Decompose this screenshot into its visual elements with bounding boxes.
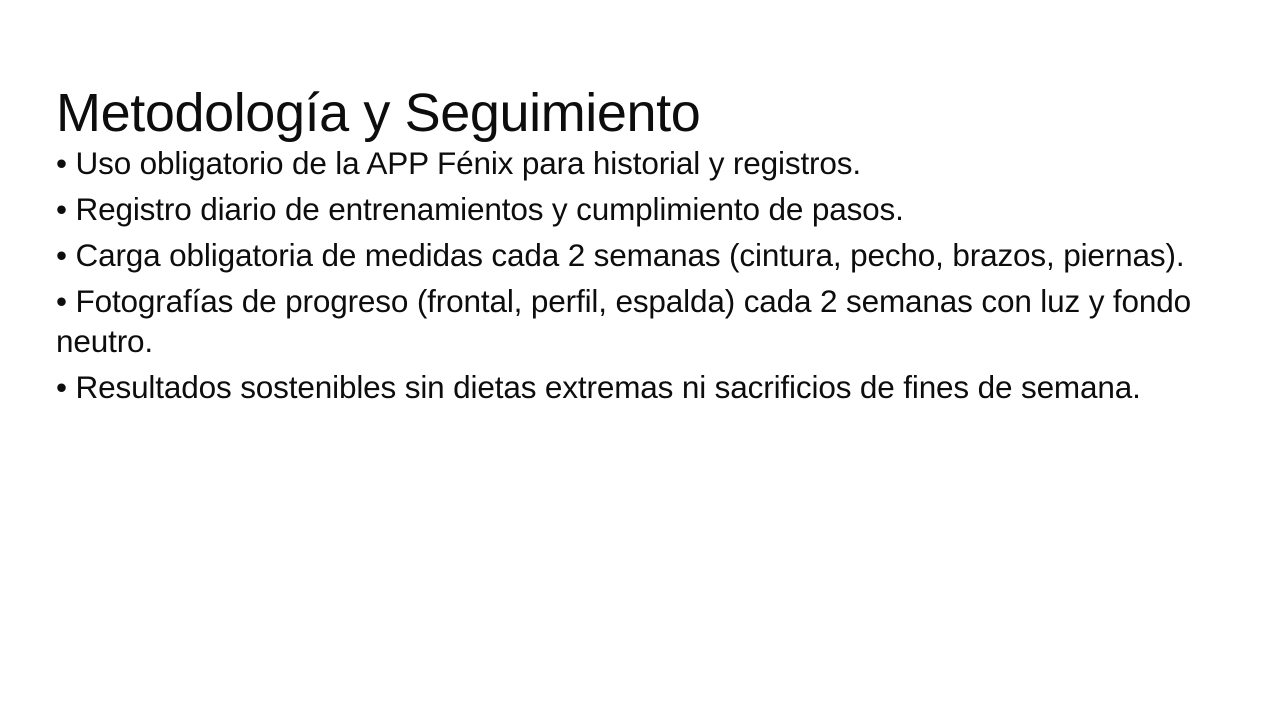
presentation-slide: Metodología y Seguimiento • Uso obligato… [0, 0, 1280, 720]
list-item-label: Carga obligatoria de medidas cada 2 sema… [76, 237, 1185, 273]
bullet-dot-icon: • [56, 145, 67, 181]
bullet-dot-icon: • [56, 283, 67, 319]
list-item: • Carga obligatoria de medidas cada 2 se… [56, 236, 1226, 276]
bullet-dot-icon: • [56, 237, 67, 273]
bullet-dot-icon: • [56, 369, 67, 405]
list-item: • Uso obligatorio de la APP Fénix para h… [56, 144, 1226, 184]
list-item: • Fotografías de progreso (frontal, perf… [56, 282, 1226, 361]
bullet-dot-icon: • [56, 191, 67, 227]
list-item-label: Resultados sostenibles sin dietas extrem… [76, 369, 1141, 405]
list-item-label: Uso obligatorio de la APP Fénix para his… [76, 145, 861, 181]
page-title: Metodología y Seguimiento [56, 82, 1226, 146]
bullet-list: • Uso obligatorio de la APP Fénix para h… [56, 144, 1226, 407]
list-item-label: Registro diario de entrenamientos y cump… [76, 191, 904, 227]
list-item-label: Fotografías de progreso (frontal, perfil… [56, 283, 1191, 359]
list-item: • Registro diario de entrenamientos y cu… [56, 190, 1226, 230]
list-item: • Resultados sostenibles sin dietas extr… [56, 368, 1226, 408]
